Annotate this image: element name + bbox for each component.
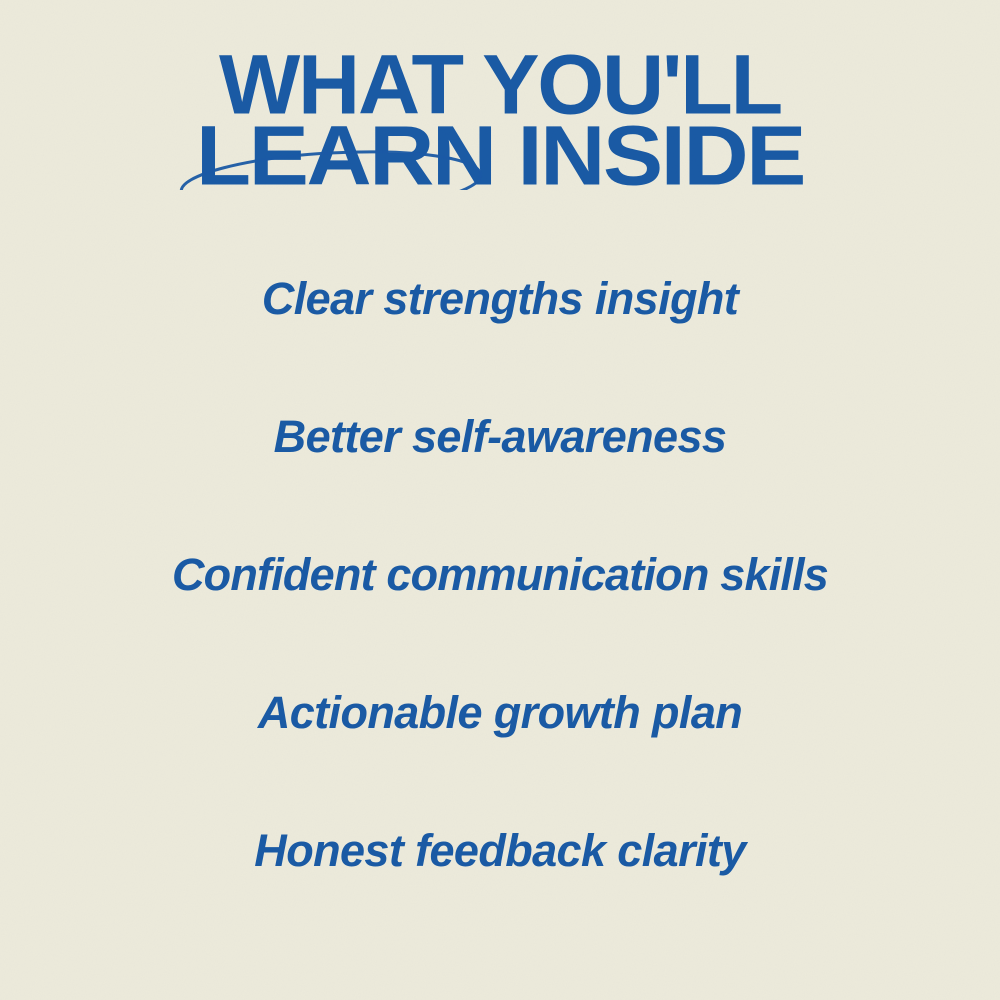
headline-block: .hl-text { font-family: "Liberation Sans…: [0, 40, 1000, 190]
headline-graphic: .hl-text { font-family: "Liberation Sans…: [0, 40, 1000, 190]
benefit-label: Better self-awareness: [274, 413, 727, 460]
benefit-label: Confident communication skills: [172, 551, 828, 598]
benefit-label: Clear strengths insight: [262, 275, 738, 322]
benefit-label: Honest feedback clarity: [254, 827, 745, 874]
benefit-item-1: Clear strengths insight: [0, 230, 1000, 368]
benefit-item-2: Better self-awareness: [0, 368, 1000, 506]
headline-line-2: LEARN INSIDE: [196, 110, 804, 190]
benefit-item-3: Confident communication skills: [0, 506, 1000, 644]
benefits-list: Clear strengths insight Better self-awar…: [0, 230, 1000, 920]
benefit-item-4: Actionable growth plan: [0, 644, 1000, 782]
benefit-item-5: Honest feedback clarity: [0, 782, 1000, 920]
benefit-label: Actionable growth plan: [258, 689, 742, 736]
poster-canvas: .hl-text { font-family: "Liberation Sans…: [0, 0, 1000, 1000]
